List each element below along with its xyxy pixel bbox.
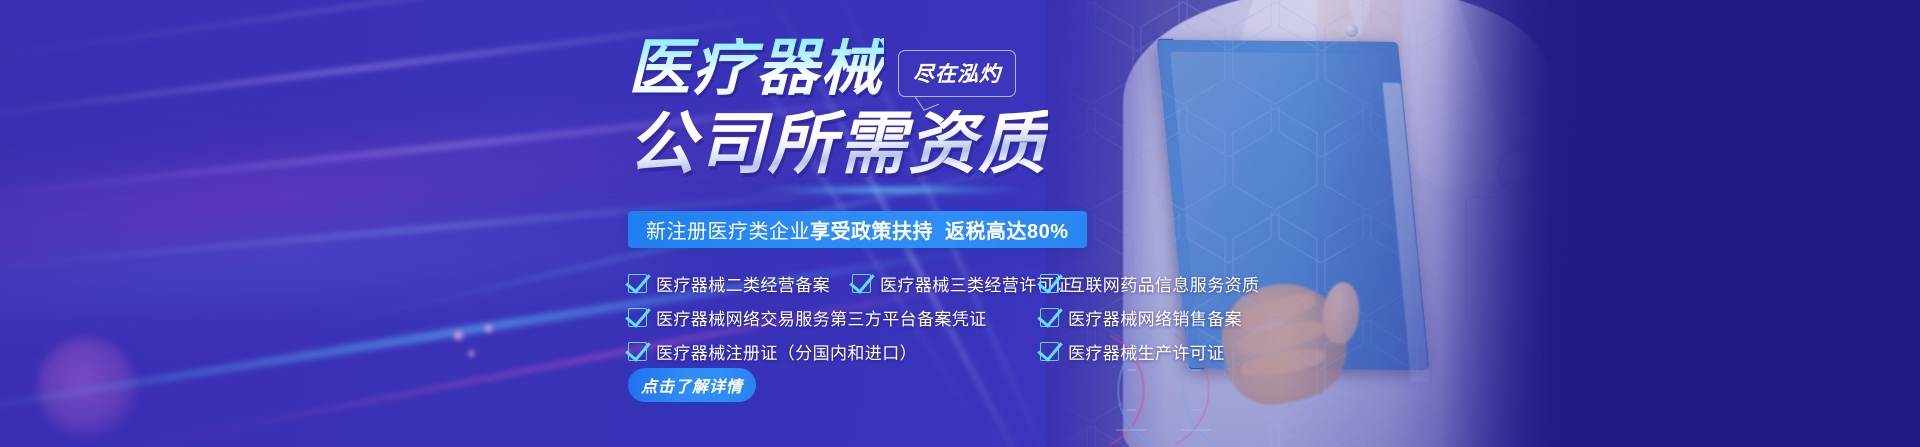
checkbox-checked-icon — [628, 308, 647, 327]
list-item: 医疗器械生产许可证 — [1040, 336, 1330, 366]
list-item: 互联网药品信息服务资质 — [1040, 268, 1330, 298]
list-item: 医疗器械网络销售备案 — [1040, 302, 1330, 332]
list-item: 医疗器械网络交易服务第三方平台备案凭证 — [628, 302, 1048, 332]
checkbox-checked-icon — [628, 342, 647, 361]
checkbox-checked-icon — [1040, 342, 1059, 361]
checkbox-checked-icon — [1040, 308, 1059, 327]
headline-line-2: 公司所需资质 — [628, 110, 1048, 178]
banner-content: 医疗器械 尽在泓灼 公司所需资质 新注册医疗类企业 享受政策扶持 返税高达80%… — [0, 0, 1920, 447]
promo-text-normal: 新注册医疗类企业 — [646, 215, 810, 244]
checkbox-checked-icon — [1040, 274, 1059, 293]
qualification-list-column-2: 互联网药品信息服务资质 医疗器械网络销售备案 医疗器械生产许可证 — [1040, 268, 1330, 370]
qualification-list-column-1: 医疗器械二类经营备案 医疗器械三类经营许可证 医疗器械网络交易服务第三方平台备案… — [628, 268, 1048, 370]
list-item-label: 医疗器械网络交易服务第三方平台备案凭证 — [656, 305, 987, 330]
medical-device-promo-banner: 医疗器械 尽在泓灼 公司所需资质 新注册医疗类企业 享受政策扶持 返税高达80%… — [0, 0, 1920, 447]
promo-text-strong: 享受政策扶持 — [810, 215, 933, 244]
checkbox-checked-icon — [852, 274, 871, 293]
promo-text-highlight: 返税高达80% — [945, 215, 1069, 244]
headline-underglow — [760, 186, 1020, 194]
list-item-label: 医疗器械二类经营备案 — [656, 271, 830, 296]
list-item-label: 医疗器械生产许可证 — [1068, 339, 1225, 364]
brand-tagline-bubble: 尽在泓灼 — [898, 50, 1016, 97]
headline-line-1: 医疗器械 — [628, 38, 884, 100]
list-item-label: 医疗器械注册证（分国内和进口） — [656, 339, 917, 364]
list-item: 医疗器械注册证（分国内和进口） — [628, 336, 1048, 366]
list-item: 医疗器械二类经营备案 医疗器械三类经营许可证 — [628, 268, 1048, 298]
headline-row: 医疗器械 尽在泓灼 — [628, 38, 1016, 100]
list-item-label: 互联网药品信息服务资质 — [1068, 271, 1259, 296]
list-item-label: 医疗器械网络销售备案 — [1068, 305, 1242, 330]
promo-highlight-bar: 新注册医疗类企业 享受政策扶持 返税高达80% — [628, 211, 1087, 248]
checkbox-checked-icon — [628, 274, 647, 293]
learn-more-button[interactable]: 点击了解详情 — [628, 368, 756, 402]
